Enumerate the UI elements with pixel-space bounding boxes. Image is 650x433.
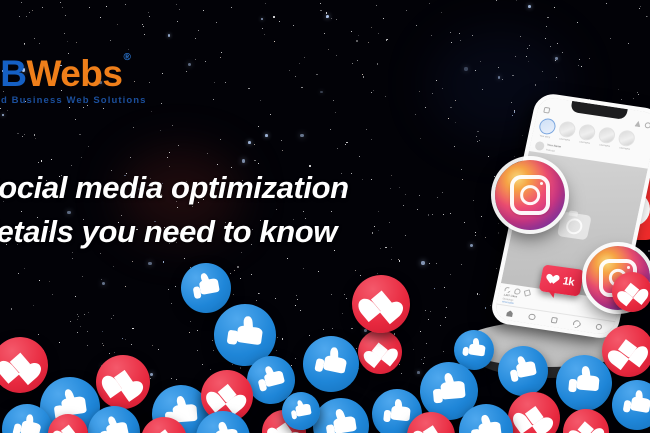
home-icon[interactable]	[506, 310, 514, 317]
avatar	[534, 141, 545, 151]
thumbs-up-icon	[190, 272, 221, 303]
heart-icon	[548, 274, 561, 285]
reels-icon[interactable]	[550, 317, 558, 324]
thumbs-up-icon	[507, 355, 539, 387]
story-avatar	[537, 117, 556, 135]
thumbs-up-icon	[470, 415, 502, 433]
instagram-glyph-icon	[510, 175, 551, 216]
like-count-badge: 1k	[539, 264, 585, 296]
registered-mark-icon: ®	[123, 53, 130, 63]
heart-icon	[5, 351, 36, 379]
story-avatar	[617, 129, 636, 147]
igtv-icon[interactable]	[634, 120, 641, 127]
logo-wordmark: UBWebs®	[0, 55, 174, 92]
messenger-icon[interactable]	[644, 122, 650, 129]
like-count-value: 1k	[562, 275, 575, 288]
heart-icon	[613, 337, 643, 365]
share-icon[interactable]	[524, 289, 531, 296]
heart-icon	[57, 423, 80, 433]
heart-icon	[573, 420, 598, 433]
headline-line-2: details you need to know	[0, 210, 349, 254]
thumbs-up-icon	[621, 389, 650, 420]
heart-icon	[519, 404, 550, 432]
thumbs-up-icon	[97, 415, 130, 433]
heart-icon	[365, 289, 397, 319]
comment-icon[interactable]	[514, 288, 521, 295]
like-icon[interactable]	[503, 286, 511, 294]
thumbs-up-icon	[324, 409, 359, 433]
story-avatar	[577, 123, 596, 141]
story-item[interactable]: username	[556, 120, 577, 142]
thumbs-up-icon	[432, 374, 466, 408]
story-item[interactable]: username	[576, 123, 597, 145]
story-item[interactable]: username	[616, 129, 637, 151]
thumbs-up-icon	[382, 399, 412, 429]
profile-icon[interactable]	[595, 323, 603, 330]
heart-icon	[151, 428, 178, 433]
heart-icon[interactable]	[572, 319, 581, 328]
thumbs-up-icon	[11, 413, 44, 433]
logo-text-ub: UB	[0, 53, 26, 94]
search-icon[interactable]	[528, 313, 536, 320]
heart-icon	[368, 341, 393, 364]
camera-icon[interactable]	[543, 107, 550, 114]
site-logo[interactable]: UBWebs® nified Business Web Solutions	[0, 55, 174, 106]
story-avatar	[557, 120, 576, 138]
camera-placeholder-icon	[557, 211, 592, 240]
social-media-banner: Your storyusernameusernameusernameuserna…	[0, 0, 650, 433]
thumbs-up-icon	[255, 364, 286, 395]
thumbs-up-icon	[568, 367, 601, 400]
logo-text-webs: Webs	[26, 53, 122, 94]
thumbs-up-icon	[313, 346, 349, 382]
thumbs-up-icon	[207, 422, 239, 433]
thumbs-up-icon	[289, 399, 313, 423]
heart-icon	[107, 367, 139, 397]
post-location: Pakistan	[546, 148, 556, 152]
story-item[interactable]: username	[596, 126, 617, 148]
story-avatar	[597, 126, 616, 144]
logo-tagline: nified Business Web Solutions	[0, 95, 174, 106]
heart-icon	[621, 282, 644, 303]
instagram-icon[interactable]	[495, 160, 565, 230]
story-item[interactable]: Your story	[536, 117, 557, 139]
thumbs-up-icon	[226, 316, 264, 354]
page-title: Social media optimization details you ne…	[0, 166, 349, 254]
heart-icon	[212, 382, 241, 409]
thumbs-up-icon	[462, 338, 486, 362]
headline-line-1: Social media optimization	[0, 166, 349, 210]
heart-icon	[416, 422, 445, 433]
